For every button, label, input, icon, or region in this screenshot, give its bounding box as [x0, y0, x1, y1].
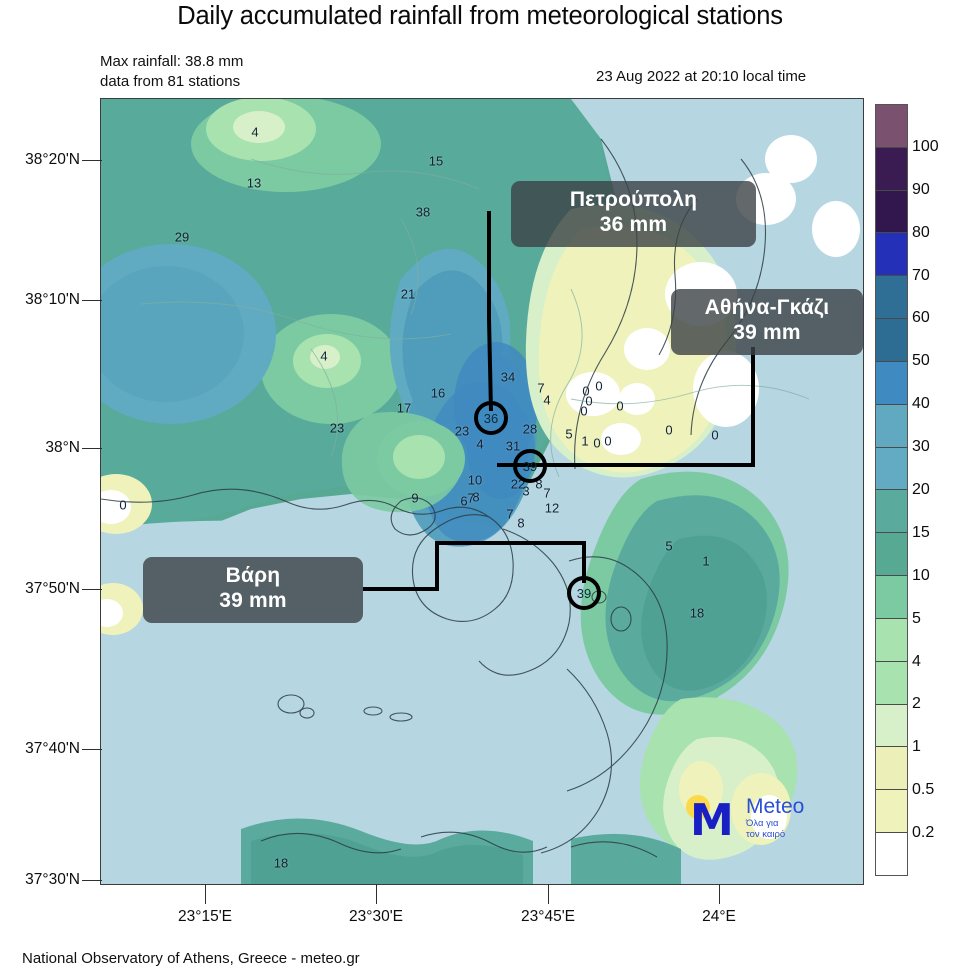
colorbar-tick-label: 15	[912, 524, 930, 542]
station-value: 4	[320, 349, 327, 364]
colorbar-tick-label: 0.2	[912, 824, 934, 842]
latitude-tick-label: 37°40'N	[25, 740, 80, 758]
colorbar-band	[876, 747, 907, 790]
colorbar-tick-label: 1	[912, 738, 921, 756]
colorbar-band	[876, 405, 907, 448]
latitude-tick-label: 38°N	[45, 439, 80, 457]
colorbar-tick-label: 40	[912, 395, 930, 413]
station-value: 18	[690, 606, 704, 621]
station-marker-vari[interactable]: 39	[567, 576, 601, 610]
meteo-logo-mark: M	[684, 792, 742, 844]
colorbar-band	[876, 490, 907, 533]
colorbar-tick-label: 4	[912, 653, 921, 671]
longitude-tick-mark	[548, 884, 549, 904]
colorbar-tick-label: 20	[912, 481, 930, 499]
longitude-tick-label: 23°30'E	[349, 908, 403, 926]
meteo-logo-text: Meteo Όλα για τον καιρό	[746, 796, 804, 840]
colorbar-tick-label: 90	[912, 181, 930, 199]
station-marker-label: 39	[523, 459, 537, 474]
station-value: 1	[702, 554, 709, 569]
latitude-tick-label: 37°50'N	[25, 580, 80, 598]
colorbar-tick-labels: 1009080706050403020151054210.50.2	[912, 104, 960, 876]
latitude-tick-mark	[82, 300, 102, 301]
latitude-tick-mark	[82, 589, 102, 590]
colorbar-band	[876, 619, 907, 662]
callout-petroupoli[interactable]: Πετρούπολη 36 mm	[511, 181, 756, 247]
meteo-tagline-line2: τον καιρό	[746, 830, 804, 841]
colorbar-tick-label: 80	[912, 224, 930, 242]
station-value: 31	[506, 439, 520, 454]
callout-station-name: Βάρη	[226, 564, 281, 587]
callout-station-value: 39 mm	[685, 321, 849, 346]
latitude-tick-mark	[82, 749, 102, 750]
latitude-tick-mark	[82, 448, 102, 449]
station-value: 0	[580, 404, 587, 419]
longitude-tick-label: 23°45'E	[521, 908, 575, 926]
colorbar-band	[876, 105, 907, 148]
station-value: 18	[274, 856, 288, 871]
station-value: 7	[467, 491, 474, 506]
station-value: 17	[397, 401, 411, 416]
colorbar-tick-label: 0.5	[912, 781, 934, 799]
colorbar-band	[876, 790, 907, 833]
station-value: 13	[247, 176, 261, 191]
station-value: 0	[593, 436, 600, 451]
station-value: 0	[595, 379, 602, 394]
station-value: 5	[565, 427, 572, 442]
station-value: 29	[175, 230, 189, 245]
station-marker-athina-gazi[interactable]: 39	[513, 449, 547, 483]
meteo-wordmark: Meteo	[746, 796, 804, 817]
station-value: 12	[545, 501, 559, 516]
station-value: 1	[581, 434, 588, 449]
colorbar-band	[876, 533, 907, 576]
station-value: 23	[455, 424, 469, 439]
latitude-tick-mark	[82, 160, 102, 161]
colorbar-band	[876, 191, 907, 234]
station-value: 0	[711, 428, 718, 443]
station-value: 0	[665, 423, 672, 438]
colorbar-band	[876, 276, 907, 319]
station-value: 0	[616, 399, 623, 414]
colorbar-band	[876, 662, 907, 705]
station-marker-petroupoli[interactable]: 36	[474, 401, 508, 435]
meteo-logo: M Meteo Όλα για τον καιρό	[684, 789, 844, 847]
callout-station-value: 36 mm	[525, 213, 742, 238]
letter-m-icon: M	[690, 802, 732, 840]
colorbar-band	[876, 362, 907, 405]
max-rainfall-text: Max rainfall: 38.8 mm	[100, 52, 243, 72]
station-marker-label: 39	[577, 586, 591, 601]
latitude-tick-label: 38°10'N	[25, 291, 80, 309]
colorbar-tick-label: 70	[912, 267, 930, 285]
longitude-tick-mark	[719, 884, 720, 904]
callout-athina-gazi[interactable]: Αθήνα-Γκάζι 39 mm	[671, 289, 863, 355]
station-value: 8	[517, 516, 524, 531]
callout-station-name: Αθήνα-Γκάζι	[705, 296, 830, 319]
colorbar-band	[876, 576, 907, 619]
station-value: 0	[604, 434, 611, 449]
callout-vari[interactable]: Βάρη 39 mm	[143, 557, 363, 623]
colorbar-tick-label: 10	[912, 567, 930, 585]
station-value: 21	[401, 287, 415, 302]
timestamp-text: 23 Aug 2022 at 20:10 local time	[596, 68, 806, 85]
longitude-tick-mark	[376, 884, 377, 904]
colorbar-tick-label: 5	[912, 610, 921, 628]
station-marker-label: 36	[484, 411, 498, 426]
station-count-text: data from 81 stations	[100, 72, 243, 92]
station-value: 9	[411, 491, 418, 506]
latitude-tick-mark	[82, 880, 102, 881]
rainfall-map[interactable]: 4151338292143416740000017232328051000314…	[100, 98, 864, 885]
colorbar-band	[876, 233, 907, 276]
station-value: 0	[119, 498, 126, 513]
longitude-tick-label: 23°15'E	[178, 908, 232, 926]
page-title: Daily accumulated rainfall from meteorol…	[0, 2, 960, 31]
station-value: 7	[506, 507, 513, 522]
station-value: 38	[416, 205, 430, 220]
rainfall-colorbar[interactable]	[875, 104, 908, 876]
station-value: 23	[330, 421, 344, 436]
callout-station-name: Πετρούπολη	[570, 188, 697, 211]
station-value: 10	[468, 473, 482, 488]
station-value: 5	[665, 539, 672, 554]
colorbar-band	[876, 833, 907, 875]
latitude-tick-label: 37°30'N	[25, 871, 80, 889]
colorbar-band	[876, 148, 907, 191]
station-value: 7	[543, 486, 550, 501]
station-value: 15	[429, 154, 443, 169]
station-value: 4	[476, 437, 483, 452]
colorbar-tick-label: 50	[912, 352, 930, 370]
colorbar-band	[876, 705, 907, 748]
map-metadata: Max rainfall: 38.8 mm data from 81 stati…	[100, 52, 243, 92]
longitude-tick-label: 24°E	[702, 908, 736, 926]
meteo-tagline-line1: Όλα για	[746, 819, 804, 830]
colorbar-tick-label: 2	[912, 695, 921, 713]
callout-station-value: 39 mm	[157, 589, 349, 614]
station-value: 28	[523, 422, 537, 437]
rainfall-map-page: Daily accumulated rainfall from meteorol…	[0, 0, 960, 975]
latitude-tick-label: 38°20'N	[25, 151, 80, 169]
colorbar-tick-label: 30	[912, 438, 930, 456]
colorbar-band	[876, 448, 907, 491]
station-value: 34	[501, 370, 515, 385]
station-value: 3	[522, 484, 529, 499]
station-value: 16	[431, 386, 445, 401]
longitude-tick-mark	[205, 884, 206, 904]
colorbar-band	[876, 319, 907, 362]
colorbar-tick-label: 100	[912, 138, 939, 156]
station-value: 4	[251, 125, 258, 140]
station-value: 4	[543, 393, 550, 408]
colorbar-tick-label: 60	[912, 309, 930, 327]
source-credit: National Observatory of Athens, Greece -…	[22, 950, 360, 967]
